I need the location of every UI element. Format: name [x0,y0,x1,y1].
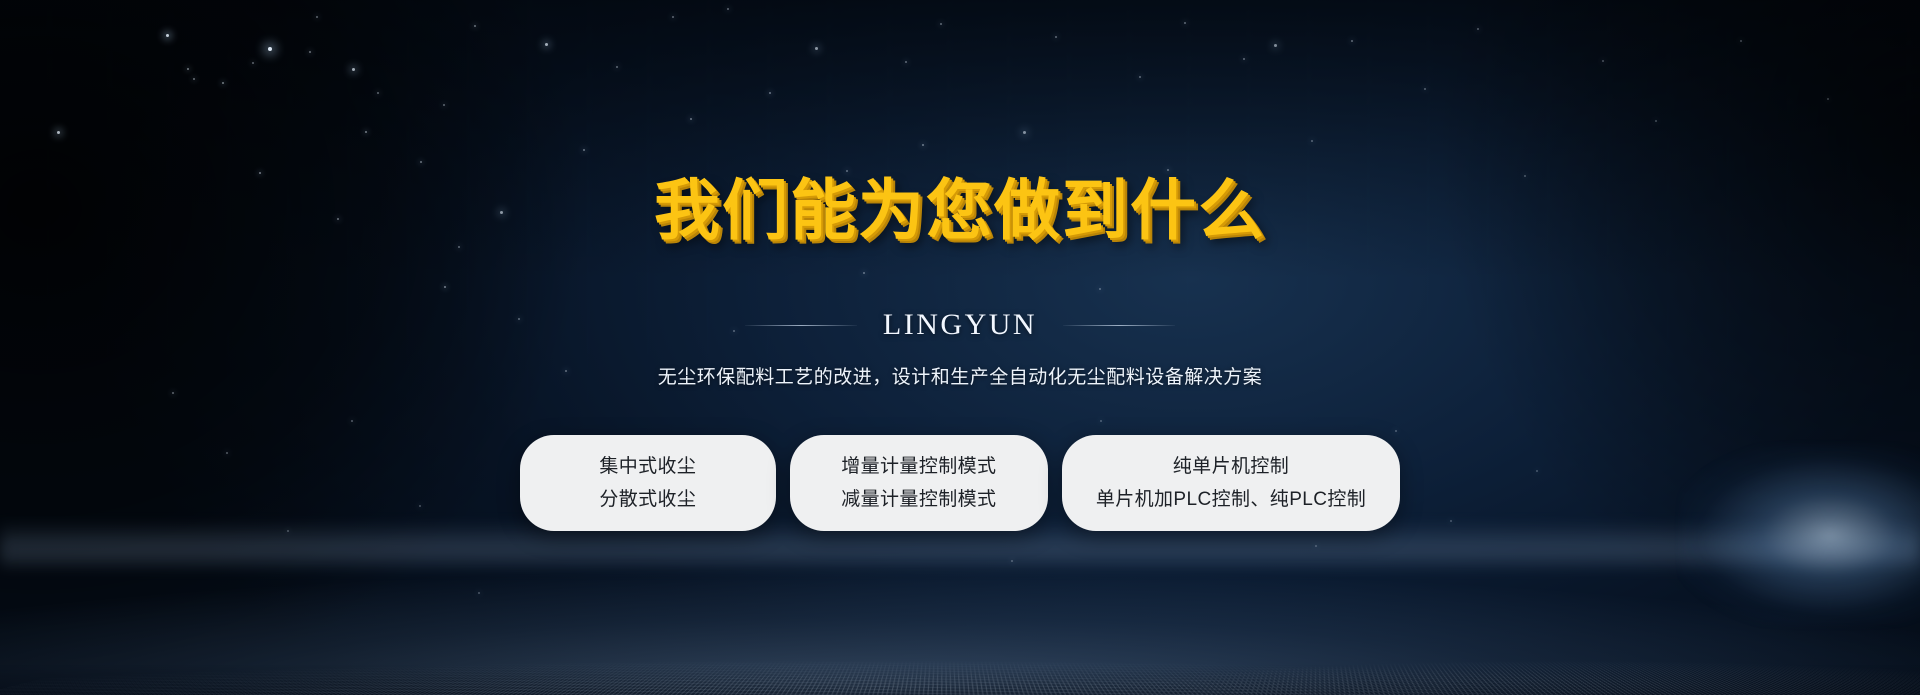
feature-card[interactable]: 增量计量控制模式 减量计量控制模式 [790,435,1048,531]
brand-divider-row: LINGYUN [745,308,1175,342]
feature-card[interactable]: 纯单片机控制 单片机加PLC控制、纯PLC控制 [1062,435,1400,531]
feature-card-line: 分散式收尘 [599,490,696,509]
feature-card-line: 减量计量控制模式 [841,490,996,509]
feature-card-line: 集中式收尘 [599,457,696,476]
feature-card-line: 增量计量控制模式 [841,457,996,476]
banner-tagline: 无尘环保配料工艺的改进，设计和生产全自动化无尘配料设备解决方案 [658,362,1263,389]
hero-banner: 我们能为您做到什么 LINGYUN 无尘环保配料工艺的改进，设计和生产全自动化无… [0,0,1920,695]
divider-line-left [745,325,857,326]
feature-card-line: 纯单片机控制 [1173,457,1289,476]
feature-card-list: 集中式收尘 分散式收尘 增量计量控制模式 减量计量控制模式 纯单片机控制 单片机… [520,435,1400,531]
banner-content: 我们能为您做到什么 LINGYUN 无尘环保配料工艺的改进，设计和生产全自动化无… [0,0,1920,695]
feature-card-line: 单片机加PLC控制、纯PLC控制 [1096,490,1366,509]
banner-headline: 我们能为您做到什么 [654,178,1266,244]
brand-latin-name: LINGYUN [883,308,1037,342]
feature-card[interactable]: 集中式收尘 分散式收尘 [520,435,776,531]
divider-line-right [1063,325,1175,326]
